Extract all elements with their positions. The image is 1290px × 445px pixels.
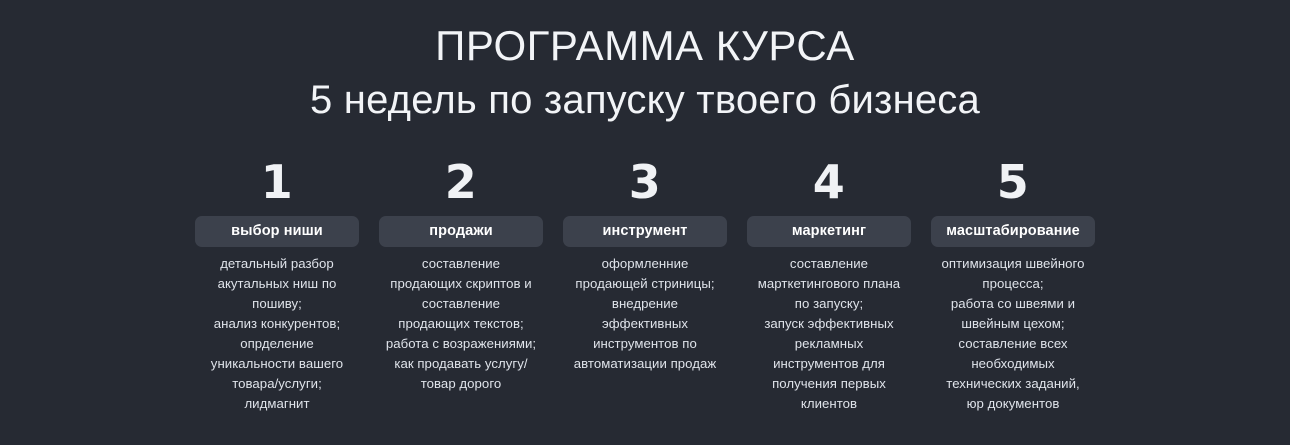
week-description: детальный разбор акутальных ниш по пошив… bbox=[191, 254, 363, 414]
week-number: 5 bbox=[997, 158, 1030, 206]
week-title-badge: инструмент bbox=[563, 216, 727, 247]
week-title-badge: выбор ниши bbox=[195, 216, 359, 247]
program-weeks-list: 1 выбор ниши детальный разбор акутальных… bbox=[0, 158, 1290, 414]
page-subtitle: 5 недель по запуску твоего бизнеса bbox=[0, 72, 1290, 126]
week-column-4: 4 маркетинг составление марткетингового … bbox=[747, 158, 911, 414]
week-title-badge: маркетинг bbox=[747, 216, 911, 247]
week-column-1: 1 выбор ниши детальный разбор акутальных… bbox=[195, 158, 359, 414]
week-title-badge: продажи bbox=[379, 216, 543, 247]
week-number: 4 bbox=[813, 158, 846, 206]
course-program-slide: ПРОГРАММА КУРСА 5 недель по запуску твое… bbox=[0, 0, 1290, 445]
week-description: составление марткетингового плана по зап… bbox=[743, 254, 915, 414]
week-column-3: 3 инструмент оформленние продающей стрин… bbox=[563, 158, 727, 374]
week-number: 2 bbox=[445, 158, 478, 206]
week-column-2: 2 продажи составление продающих скриптов… bbox=[379, 158, 543, 394]
week-description: оформленние продающей стриницы; внедрени… bbox=[559, 254, 731, 374]
heading-block: ПРОГРАММА КУРСА 5 недель по запуску твое… bbox=[0, 0, 1290, 126]
week-description: оптимизация швейного процесса; работа со… bbox=[927, 254, 1099, 414]
week-number: 3 bbox=[629, 158, 662, 206]
week-column-5: 5 масштабирование оптимизация швейного п… bbox=[931, 158, 1095, 414]
week-title-badge: масштабирование bbox=[931, 216, 1095, 247]
week-description: составление продающих скриптов и составл… bbox=[375, 254, 547, 394]
week-number: 1 bbox=[261, 158, 294, 206]
page-title: ПРОГРАММА КУРСА bbox=[0, 20, 1290, 72]
